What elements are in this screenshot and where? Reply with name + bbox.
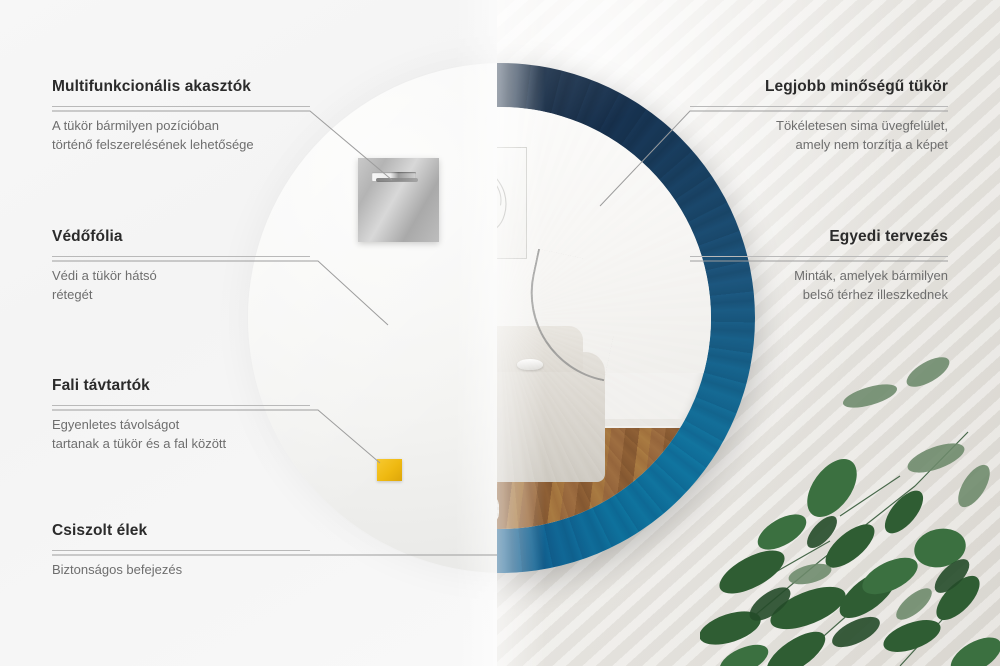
callout-wall-spacers: Fali távtartók Egyenletes távolságot tar… — [52, 377, 310, 453]
callout-body-line-1: Védi a tükör hátsó — [52, 266, 310, 285]
callout-rule — [52, 550, 310, 551]
callout-polished-edges: Csiszolt élek Biztonságos befejezés — [52, 522, 310, 579]
callout-body-line-2: történő felszerelésének lehetősége — [52, 135, 310, 154]
callout-body-line-1: A tükör bármilyen pozícióban — [52, 116, 310, 135]
callout-body-line-1: Tökéletesen sima üvegfelület, — [690, 116, 948, 135]
reflected-lamp-shade — [517, 359, 543, 370]
callout-body-line-1: Egyenletes távolságot — [52, 415, 310, 434]
infographic-canvas: Multifunkcionális akasztók A tükör bármi… — [0, 0, 1000, 666]
callout-body-line-2: rétegét — [52, 285, 310, 304]
callout-title: Fali távtartók — [52, 377, 310, 396]
reflected-rug — [497, 469, 499, 529]
callout-body-line-1: Minták, amelyek bármilyen — [690, 266, 948, 285]
callout-body-line-1: Biztonságos befejezés — [52, 560, 310, 579]
line-art-face-icon — [497, 148, 526, 258]
callout-rule — [690, 106, 948, 107]
callout-title: Multifunkcionális akasztók — [52, 78, 310, 97]
leaves-icon — [700, 336, 1000, 666]
reflected-line-art-picture — [497, 147, 527, 259]
reflected-baseboard — [497, 419, 711, 426]
callout-title: Védőfólia — [52, 228, 310, 247]
reflected-sofa — [497, 352, 605, 482]
hanger-plate — [358, 158, 439, 242]
foliage-plant — [700, 336, 1000, 666]
callout-unique-design: Egyedi tervezés Minták, amelyek bármilye… — [690, 228, 948, 304]
callout-multifunctional-hangers: Multifunkcionális akasztók A tükör bármi… — [52, 78, 310, 154]
hanger-slot-shadow-icon — [376, 178, 418, 182]
callout-protective-foil: Védőfólia Védi a tükör hátsó rétegét — [52, 228, 310, 304]
mirror-glass — [497, 107, 711, 529]
callout-body-line-2: amely nem torzítja a képet — [690, 135, 948, 154]
reflected-wood-floor — [497, 428, 711, 529]
callout-rule — [690, 256, 948, 257]
callout-body-line-2: tartanak a tükör és a fal között — [52, 434, 310, 453]
yellow-spacer — [377, 459, 402, 481]
reflected-wall — [497, 107, 711, 373]
callout-body-line-2: belső térhez illeszkednek — [690, 285, 948, 304]
callout-rule — [52, 405, 310, 406]
reflected-sofa-backrest — [497, 326, 583, 372]
callout-title: Csiszolt élek — [52, 522, 310, 541]
callout-title: Egyedi tervezés — [690, 228, 948, 247]
callout-rule — [52, 106, 310, 107]
callout-rule — [52, 256, 310, 257]
callout-title: Legjobb minőségű tükör — [690, 78, 948, 97]
reflected-floor-lamp — [514, 249, 628, 382]
callout-best-quality-mirror: Legjobb minőségű tükör Tökéletesen sima … — [690, 78, 948, 154]
